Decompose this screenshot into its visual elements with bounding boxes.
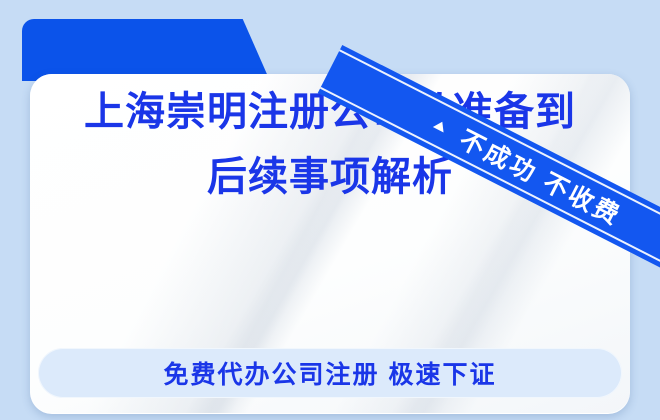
promo-poster: 上海壹隆 上海崇明注册公司从准备到 后续事项解析 免费代办公司注册 极速下证 不… [0,0,660,420]
brand-tab [22,19,270,81]
triangle-up-icon [433,119,448,132]
cta-banner-label: 免费代办公司注册 极速下证 [164,355,497,391]
cta-banner[interactable]: 免费代办公司注册 极速下证 [38,348,622,398]
